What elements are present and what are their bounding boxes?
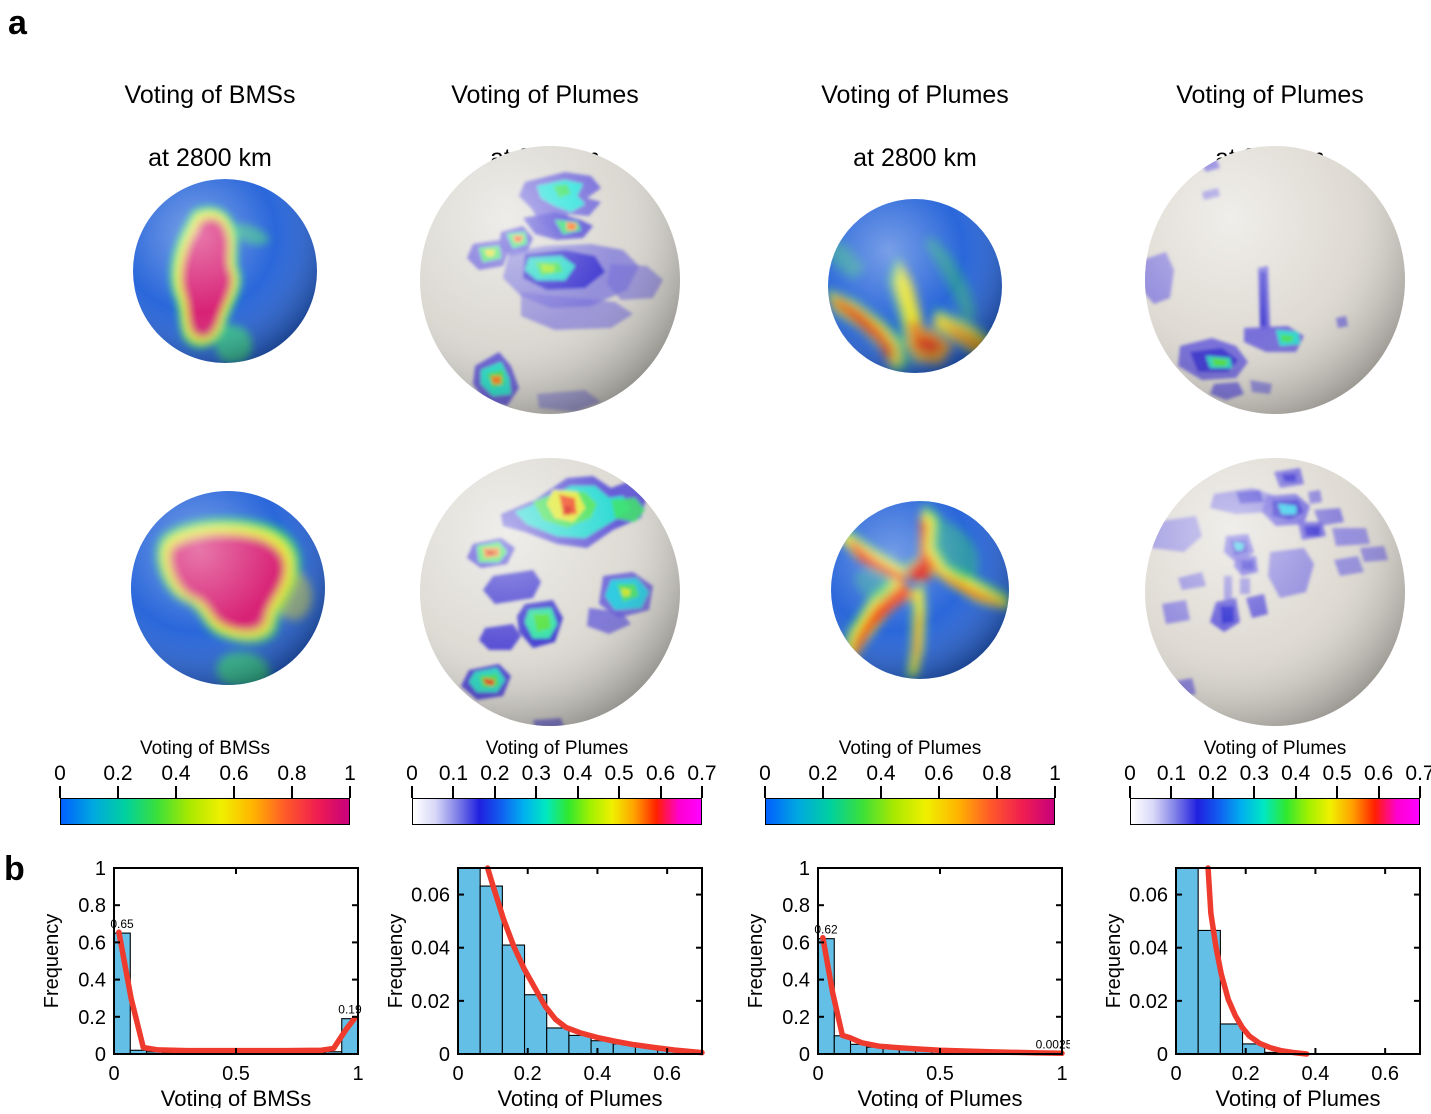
x-ticklabel: 0.6 (653, 1063, 681, 1085)
column-title-3: Voting of Plumes at 2800 km (745, 48, 1085, 206)
y-axis-label: Frequency (41, 914, 63, 1009)
x-ticklabel: 0.6 (1371, 1063, 1399, 1085)
x-ticklabel: 0 (1170, 1063, 1181, 1085)
colorbar-1-ticks (60, 786, 350, 798)
colorbar-2-ticklabels: 00.10.20.30.40.50.60.7 (412, 762, 702, 786)
colorbar-1-tickmark (291, 786, 293, 798)
colorbar-3-ticklabel: 0.8 (982, 762, 1011, 786)
x-ticklabel: 0.4 (1302, 1063, 1330, 1085)
histogram-2: 00.20.40.600.020.040.06FrequencyVoting o… (380, 858, 710, 1108)
y-ticklabel: 0.4 (782, 970, 810, 992)
colorbar-4: Voting of Plumes 00.10.20.30.40.50.60.7 (1130, 738, 1420, 825)
y-ticklabel: 0.06 (411, 885, 450, 907)
colorbar-3-tickmark (938, 786, 940, 798)
bar-value-label: 0.65 (110, 917, 134, 931)
colorbar-1-gradient (60, 798, 350, 825)
column-title-4-line1: Voting of Plumes (1100, 80, 1431, 112)
y-axis-label: Frequency (385, 914, 407, 1009)
colorbar-2-ticks (412, 786, 702, 798)
colorbar-4-ticklabel: 0.2 (1198, 762, 1227, 786)
globe-col4-row1 (1140, 140, 1410, 420)
globe-col4-row2 (1140, 452, 1410, 732)
x-axis-label: Voting of Plumes (857, 1086, 1022, 1108)
x-ticklabel: 0.2 (1232, 1063, 1260, 1085)
colorbar-2-ticklabel: 0.7 (687, 762, 716, 786)
colorbar-2-tickmark (701, 786, 703, 798)
colorbar-2-label: Voting of Plumes (412, 738, 702, 760)
colorbar-1-ticklabel: 0.6 (219, 762, 248, 786)
colorbar-3-label: Voting of Plumes (765, 738, 1055, 760)
colorbar-3-ticks (765, 786, 1055, 798)
colorbar-1-ticklabels: 00.20.40.60.81 (60, 762, 350, 786)
x-axis-label: Voting of Plumes (1215, 1086, 1380, 1108)
y-ticklabel: 0.6 (78, 932, 106, 954)
colorbar-2-ticklabel: 0.6 (646, 762, 675, 786)
x-ticklabel: 0.4 (584, 1063, 612, 1085)
colorbar-1-tickmark (233, 786, 235, 798)
colorbar-2-tickmark (452, 786, 454, 798)
colorbar-4-ticklabels: 00.10.20.30.40.50.60.7 (1130, 762, 1420, 786)
histogram-1: 00.5100.20.40.60.810.650.19FrequencyVoti… (36, 858, 366, 1108)
colorbar-1-ticklabel: 0.8 (277, 762, 306, 786)
y-ticklabel: 0 (95, 1044, 106, 1066)
colorbar-3-ticklabel: 0 (759, 762, 771, 786)
y-ticklabel: 0.02 (1129, 991, 1168, 1013)
colorbar-3-tickmark (880, 786, 882, 798)
globe-col3-row1 (825, 196, 1005, 376)
colorbar-2-ticklabel: 0.4 (563, 762, 592, 786)
colorbar-4-label: Voting of Plumes (1130, 738, 1420, 760)
colorbar-4-ticklabel: 0.4 (1281, 762, 1310, 786)
colorbar-1-tickmark (349, 786, 351, 798)
colorbar-3-tickmark (1054, 786, 1056, 798)
colorbar-4-tickmark (1295, 786, 1297, 798)
plot-frame (114, 868, 358, 1054)
colorbar-2-ticklabel: 0.3 (522, 762, 551, 786)
colorbar-1-tickmark (175, 786, 177, 798)
x-ticklabel: 0.5 (222, 1063, 250, 1085)
globe-col3-row2 (828, 498, 1013, 683)
colorbar-2-ticklabel: 0.1 (439, 762, 468, 786)
colorbar-4-ticklabel: 0.5 (1323, 762, 1352, 786)
colorbar-2-tickmark (535, 786, 537, 798)
column-title-3-line2: at 2800 km (745, 143, 1085, 175)
colorbar-1: Voting of BMSs 00.20.40.60.81 (60, 738, 350, 825)
histogram-4: 00.20.40.600.020.040.06FrequencyVoting o… (1098, 858, 1428, 1108)
colorbar-3-ticklabels: 00.20.40.60.81 (765, 762, 1055, 786)
colorbar-3-tickmark (822, 786, 824, 798)
colorbar-1-tickmark (59, 786, 61, 798)
colorbar-2-tickmark (618, 786, 620, 798)
y-axis-label: Frequency (1103, 914, 1125, 1009)
histogram-bar (1176, 868, 1198, 1054)
globe-col1-row1 (130, 176, 320, 366)
colorbar-4-tickmark (1212, 786, 1214, 798)
colorbar-2-tickmark (494, 786, 496, 798)
panel-letter-a: a (8, 6, 27, 40)
colorbar-4-tickmark (1253, 786, 1255, 798)
colorbar-3-gradient (765, 798, 1055, 825)
colorbar-3-ticklabel: 0.6 (924, 762, 953, 786)
fit-curve (119, 932, 354, 1050)
colorbar-2-tickmark (577, 786, 579, 798)
y-ticklabel: 0.6 (782, 932, 810, 954)
fit-curve (823, 938, 1062, 1054)
y-ticklabel: 0 (439, 1044, 450, 1066)
colorbar-4-tickmark (1419, 786, 1421, 798)
bar-value-label: 0.0025 (1036, 1038, 1070, 1052)
histogram-3: 00.5100.20.40.60.810.620.0025FrequencyVo… (740, 858, 1070, 1108)
colorbar-1-ticklabel: 0.2 (103, 762, 132, 786)
y-ticklabel: 1 (799, 858, 810, 880)
colorbar-3-ticklabel: 0.4 (866, 762, 895, 786)
y-ticklabel: 0.04 (1129, 938, 1168, 960)
colorbar-4-tickmark (1129, 786, 1131, 798)
colorbar-4-ticklabel: 0.3 (1240, 762, 1269, 786)
colorbar-2-ticklabel: 0 (406, 762, 418, 786)
y-ticklabel: 0.8 (78, 895, 106, 917)
panel-letter-b: b (4, 852, 25, 886)
plot-frame (818, 868, 1062, 1054)
y-ticklabel: 1 (95, 858, 106, 880)
colorbar-1-label: Voting of BMSs (60, 738, 350, 760)
globe-col1-row2 (128, 488, 328, 688)
colorbar-4-tickmark (1170, 786, 1172, 798)
globe-col2-row1 (415, 140, 685, 420)
colorbar-2-tickmark (411, 786, 413, 798)
y-ticklabel: 0.4 (78, 970, 106, 992)
column-title-3-line1: Voting of Plumes (745, 80, 1085, 112)
x-ticklabel: 0 (108, 1063, 119, 1085)
x-ticklabel: 0 (452, 1063, 463, 1085)
x-ticklabel: 1 (352, 1063, 363, 1085)
x-ticklabel: 0.5 (926, 1063, 954, 1085)
colorbar-2: Voting of Plumes 00.10.20.30.40.50.60.7 (412, 738, 702, 825)
colorbar-1-tickmark (117, 786, 119, 798)
colorbar-1-ticklabel: 0 (54, 762, 66, 786)
colorbar-4-tickmark (1336, 786, 1338, 798)
colorbar-3-tickmark (764, 786, 766, 798)
y-ticklabel: 0 (1157, 1044, 1168, 1066)
column-title-1-line2: at 2800 km (40, 143, 380, 175)
column-title-2-line1: Voting of Plumes (375, 80, 715, 112)
colorbar-2-ticklabel: 0.2 (480, 762, 509, 786)
colorbar-2-tickmark (660, 786, 662, 798)
x-ticklabel: 1 (1056, 1063, 1067, 1085)
y-ticklabel: 0.2 (782, 1007, 810, 1029)
colorbar-4-gradient (1130, 798, 1420, 825)
y-ticklabel: 0.8 (782, 895, 810, 917)
y-axis-label: Frequency (745, 914, 767, 1009)
histogram-bar (569, 1035, 591, 1054)
colorbar-3: Voting of Plumes 00.20.40.60.81 (765, 738, 1055, 825)
y-ticklabel: 0.2 (78, 1007, 106, 1029)
histogram-bar (458, 868, 480, 1054)
column-title-1-line1: Voting of BMSs (40, 80, 380, 112)
colorbar-3-ticklabel: 1 (1049, 762, 1061, 786)
colorbar-4-tickmark (1378, 786, 1380, 798)
colorbar-2-gradient (412, 798, 702, 825)
y-ticklabel: 0.04 (411, 938, 450, 960)
histogram-bar (1220, 1024, 1242, 1054)
histogram-bar (547, 1028, 569, 1054)
colorbar-1-ticklabel: 1 (344, 762, 356, 786)
x-axis-label: Voting of Plumes (497, 1086, 662, 1108)
x-ticklabel: 0.2 (514, 1063, 542, 1085)
x-ticklabel: 0 (812, 1063, 823, 1085)
bar-value-label: 0.62 (814, 923, 838, 937)
colorbar-4-ticklabel: 0 (1124, 762, 1136, 786)
colorbar-3-tickmark (996, 786, 998, 798)
y-ticklabel: 0.06 (1129, 885, 1168, 907)
bar-value-label: 0.19 (338, 1003, 362, 1017)
colorbar-3-ticklabel: 0.2 (808, 762, 837, 786)
globe-col2-row2 (415, 452, 685, 732)
colorbar-2-ticklabel: 0.5 (605, 762, 634, 786)
x-axis-label: Voting of BMSs (161, 1086, 311, 1108)
y-ticklabel: 0 (799, 1044, 810, 1066)
y-ticklabel: 0.02 (411, 991, 450, 1013)
colorbar-4-ticklabel: 0.6 (1364, 762, 1393, 786)
colorbar-4-ticklabel: 0.1 (1157, 762, 1186, 786)
colorbar-4-ticklabel: 0.7 (1405, 762, 1431, 786)
colorbar-4-ticks (1130, 786, 1420, 798)
colorbar-1-ticklabel: 0.4 (161, 762, 190, 786)
